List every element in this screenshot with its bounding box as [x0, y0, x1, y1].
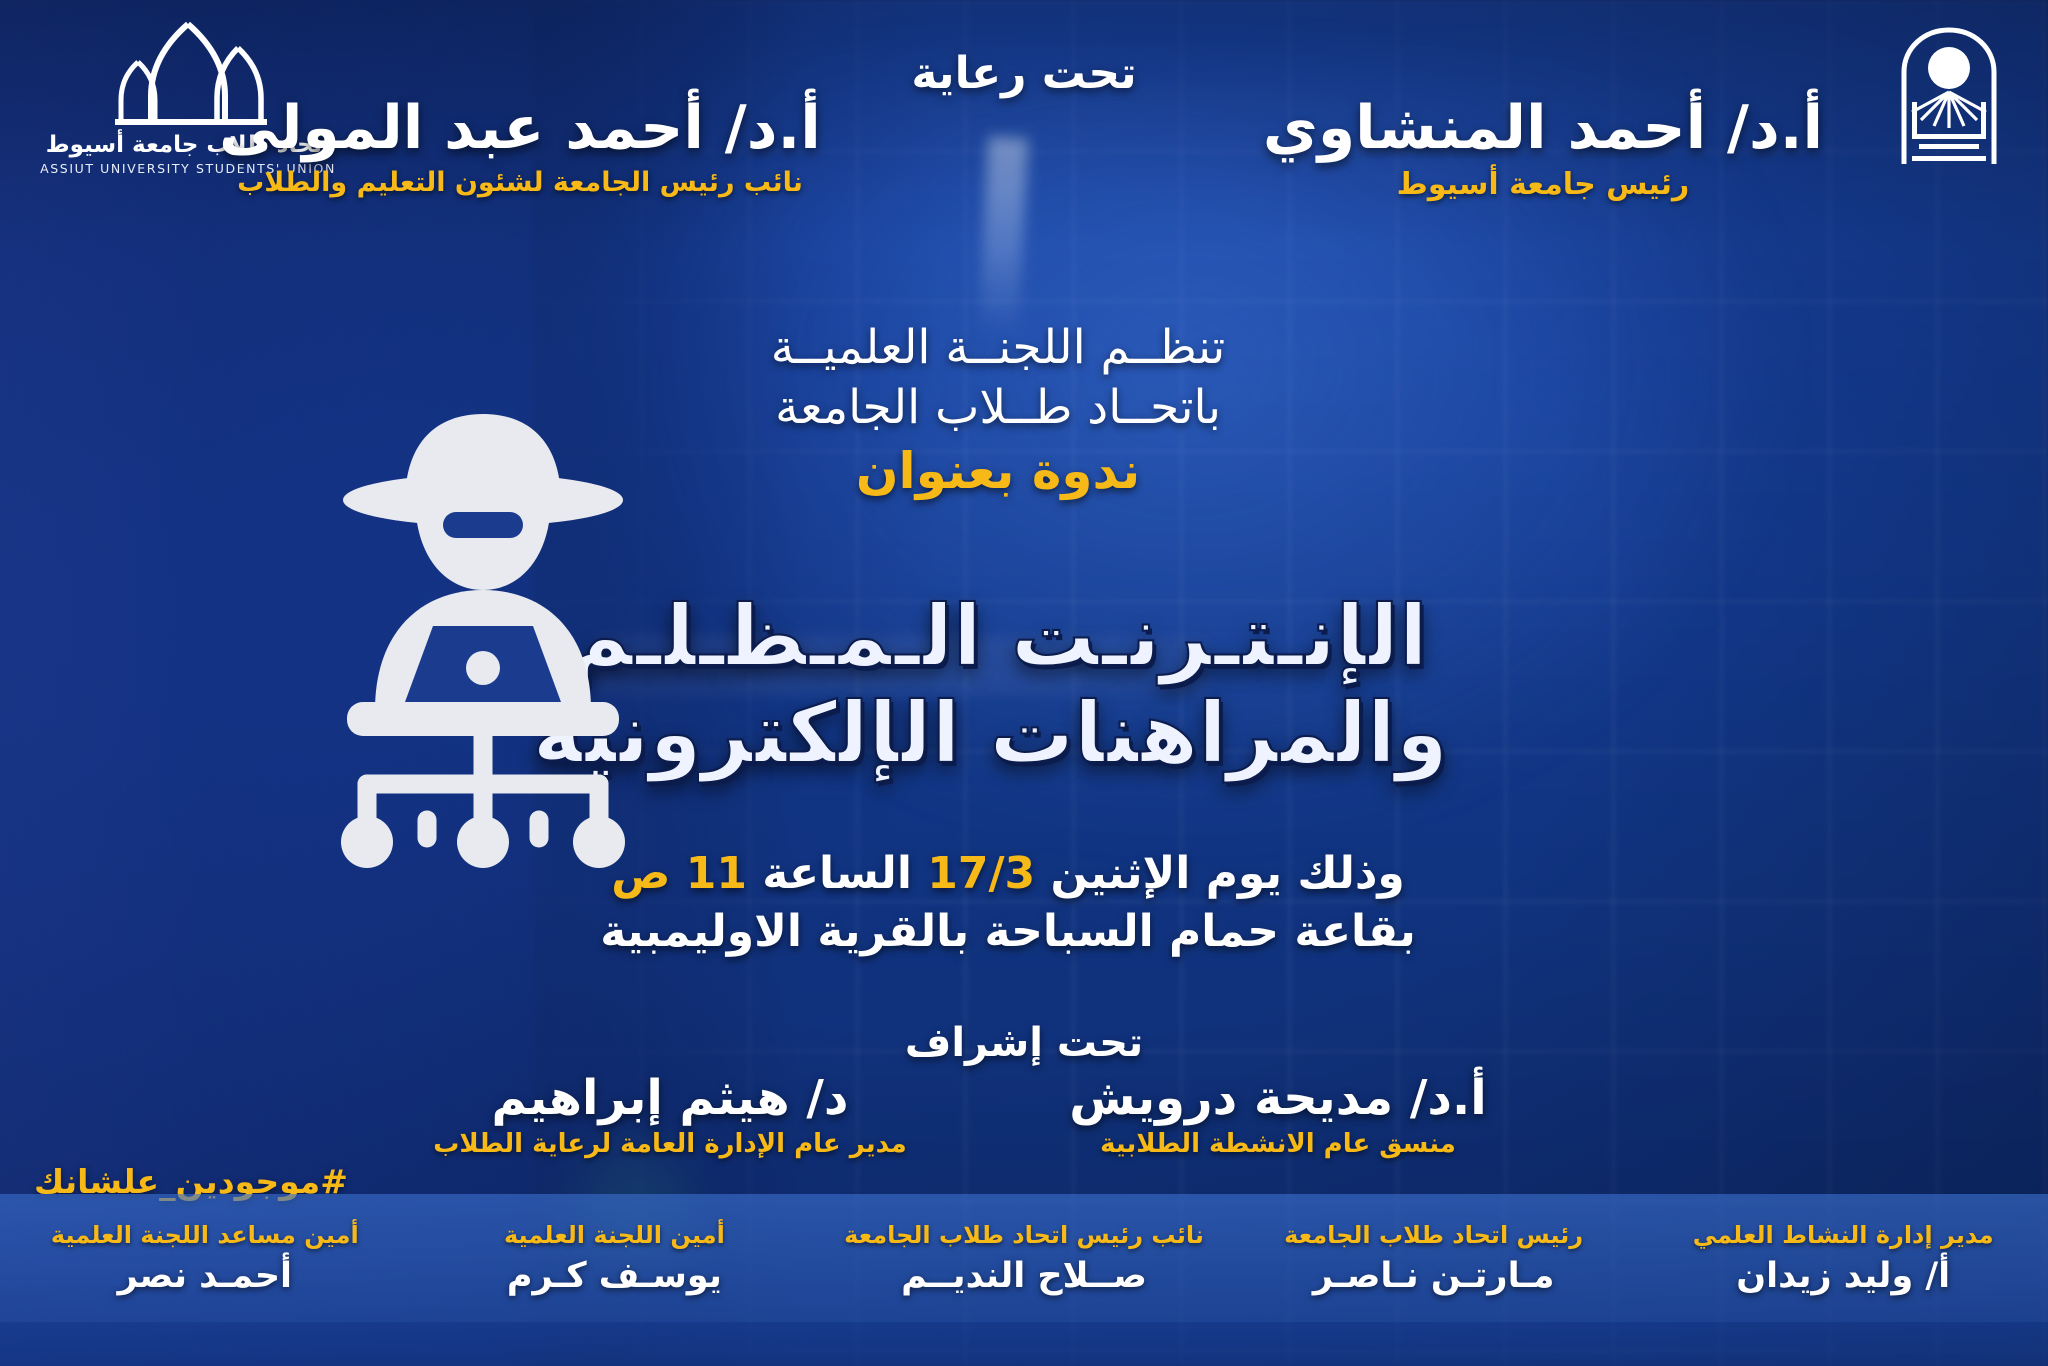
event-venue: بقاعة حمام السباحة بالقرية الاوليمبية [548, 903, 1468, 961]
supervisor-right: أ.د/ مديحة درويش منسق عام الانشطة الطلاب… [968, 1072, 1588, 1159]
patron-right-name: أ.د/ أحمد المنشاوي [1193, 96, 1893, 161]
event-time-label: الساعة [762, 848, 912, 899]
event-day-prefix: وذلك يوم الإثنين [1050, 848, 1404, 899]
bottom-credit-1-name: مـارتـن نـاصـر [1235, 1256, 1633, 1296]
bottom-credit-2-name: صــلاح النديــم [825, 1256, 1223, 1296]
bottom-credit-0-role: مدير إدارة النشاط العلمي [1644, 1221, 2042, 1249]
patron-left-name: أ.د/ أحمد عبد المولى [190, 96, 850, 161]
bottom-credit-2-role: نائب رئيس اتحاد طلاب الجامعة [825, 1221, 1223, 1249]
bottom-credits-bar: مدير إدارة النشاط العلمي أ/ وليد زيدان ر… [0, 1194, 2048, 1322]
bottom-credit-4: أمين مساعد اللجنة العلمية أحمـد نصر [0, 1221, 410, 1296]
supervisor-left-name: د/ هيثم إبراهيم [360, 1072, 980, 1125]
bottom-strip [0, 1322, 2048, 1366]
assiut-university-sun-arch-icon [1874, 151, 2024, 170]
supervisor-left-role: مدير عام الإدارة العامة لرعاية الطلاب [360, 1129, 980, 1159]
bottom-credit-0: مدير إدارة النشاط العلمي أ/ وليد زيدان [1638, 1221, 2048, 1296]
bottom-credit-2: نائب رئيس اتحاد طلاب الجامعة صــلاح الند… [819, 1221, 1229, 1296]
patronage-label: تحت رعاية [0, 48, 2048, 99]
bottom-credit-3-role: أمين اللجنة العلمية [416, 1221, 814, 1249]
event-poster: إتحاد طلاب جامعة أسيوط ASSIUT UNIVERSITY… [0, 0, 2048, 1366]
bottom-credit-3: أمين اللجنة العلمية يوسـف كـرم [410, 1221, 820, 1296]
supervisor-right-name: أ.د/ مديحة درويش [968, 1072, 1588, 1125]
patron-right-role: رئيس جامعة أسيوط [1193, 167, 1893, 202]
supervisor-left: د/ هيثم إبراهيم مدير عام الإدارة العامة … [360, 1072, 980, 1159]
patron-left-role: نائب رئيس الجامعة لشئون التعليم والطلاب [190, 167, 850, 198]
bottom-credit-1-role: رئيس اتحاد طلاب الجامعة [1235, 1221, 1633, 1249]
event-date: 17/3 [927, 848, 1035, 899]
patron-left: أ.د/ أحمد عبد المولى نائب رئيس الجامعة ل… [190, 96, 850, 198]
supervisor-right-role: منسق عام الانشطة الطلابية [968, 1129, 1588, 1159]
hacker-with-laptop-icon [255, 380, 715, 900]
bottom-credit-0-name: أ/ وليد زيدان [1644, 1256, 2042, 1296]
bottom-credit-3-name: يوسـف كـرم [416, 1256, 814, 1296]
patron-right: أ.د/ أحمد المنشاوي رئيس جامعة أسيوط [1193, 96, 1893, 202]
bottom-credit-1: رئيس اتحاد طلاب الجامعة مـارتـن نـاصـر [1229, 1221, 1639, 1296]
organizer-line-1: تنظــم اللجنــة العلميــة [568, 318, 1428, 378]
supervision-label: تحت إشراف [0, 1020, 2048, 1066]
bottom-credit-4-role: أمين مساعد اللجنة العلمية [6, 1221, 404, 1249]
bottom-credit-4-name: أحمـد نصر [6, 1256, 404, 1296]
